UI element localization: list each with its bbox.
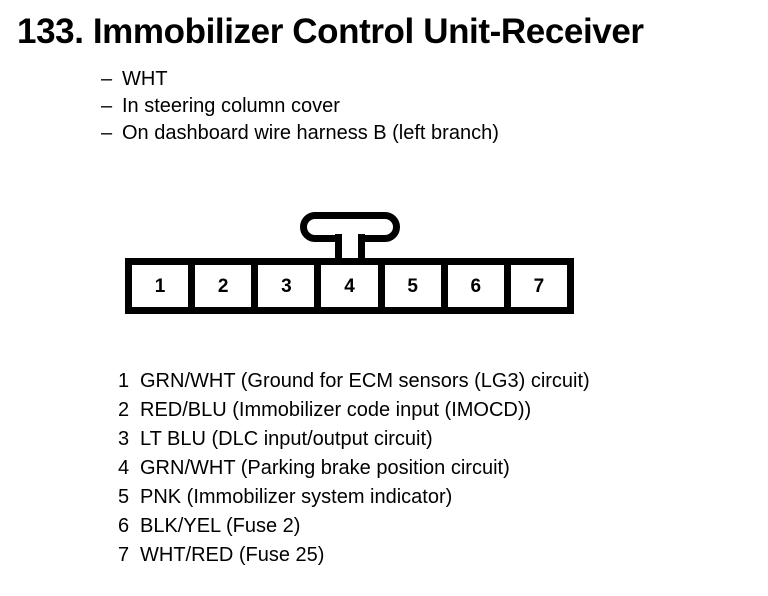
connector-diagram: 1 2 3 4 5 6 7 — [125, 212, 574, 314]
locking-tab-neck — [335, 234, 365, 260]
pin-row: 4 GRN/WHT (Parking brake position circui… — [118, 457, 590, 486]
pin-row: 1 GRN/WHT (Ground for ECM sensors (LG3) … — [118, 370, 590, 399]
pin-row: 6 BLK/YEL (Fuse 2) — [118, 515, 590, 544]
connector-cavity: 1 — [132, 265, 195, 307]
dash-marker: – — [101, 120, 122, 147]
connector-cavity: 3 — [258, 265, 321, 307]
connector-cavity: 5 — [385, 265, 448, 307]
pin-description: LT BLU (DLC input/output circuit) — [140, 428, 433, 451]
cavity-number: 3 — [281, 277, 292, 296]
pin-number: 1 — [118, 370, 140, 393]
cavity-number: 2 — [218, 277, 229, 296]
cavity-number: 6 — [470, 277, 481, 296]
pin-description: WHT/RED (Fuse 25) — [140, 544, 324, 567]
page-title: 133. Immobilizer Control Unit-Receiver — [17, 14, 644, 51]
pin-legend: 1 GRN/WHT (Ground for ECM sensors (LG3) … — [118, 370, 590, 573]
pin-row: 5 PNK (Immobilizer system indicator) — [118, 486, 590, 515]
pin-description: RED/BLU (Immobilizer code input (IMOCD)) — [140, 399, 531, 422]
pin-description: BLK/YEL (Fuse 2) — [140, 515, 300, 538]
note-text: In steering column cover — [122, 93, 340, 120]
pin-description: PNK (Immobilizer system indicator) — [140, 486, 452, 509]
note-item: – In steering column cover — [101, 93, 499, 120]
notes-list: – WHT – In steering column cover – On da… — [101, 66, 499, 147]
note-item: – On dashboard wire harness B (left bran… — [101, 120, 499, 147]
cavity-number: 1 — [155, 277, 166, 296]
connector-housing: 1 2 3 4 5 6 7 — [125, 258, 574, 314]
pin-number: 4 — [118, 457, 140, 480]
pin-row: 3 LT BLU (DLC input/output circuit) — [118, 428, 590, 457]
pin-number: 7 — [118, 544, 140, 567]
dash-marker: – — [101, 66, 122, 93]
connector-cavity: 6 — [448, 265, 511, 307]
pin-description: GRN/WHT (Parking brake position circuit) — [140, 457, 510, 480]
pin-number: 5 — [118, 486, 140, 509]
pin-number: 2 — [118, 399, 140, 422]
cavity-number: 5 — [407, 277, 418, 296]
note-item: – WHT — [101, 66, 499, 93]
pin-row: 7 WHT/RED (Fuse 25) — [118, 544, 590, 573]
pin-description: GRN/WHT (Ground for ECM sensors (LG3) ci… — [140, 370, 590, 393]
pin-row: 2 RED/BLU (Immobilizer code input (IMOCD… — [118, 399, 590, 428]
connector-cavity: 2 — [195, 265, 258, 307]
note-text: WHT — [122, 66, 168, 93]
cavity-number: 7 — [534, 277, 545, 296]
dash-marker: – — [101, 93, 122, 120]
pin-number: 3 — [118, 428, 140, 451]
connector-cavity: 4 — [321, 265, 384, 307]
pin-number: 6 — [118, 515, 140, 538]
note-text: On dashboard wire harness B (left branch… — [122, 120, 499, 147]
connector-cavity: 7 — [511, 265, 567, 307]
cavity-number: 4 — [344, 277, 355, 296]
